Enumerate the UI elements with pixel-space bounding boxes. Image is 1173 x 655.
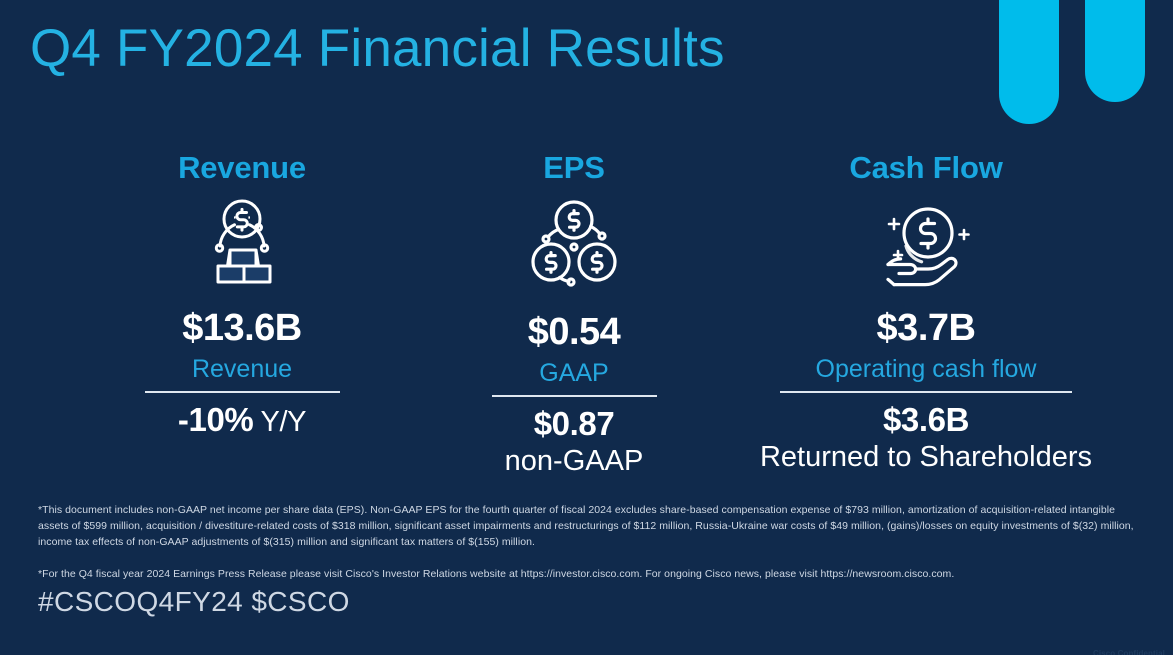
metric-value-revenue: $13.6B xyxy=(182,309,302,347)
cisco-logo xyxy=(999,0,1145,128)
metric-secondary-eps: $0.87 xyxy=(534,407,615,440)
metric-heading-cash-flow: Cash Flow xyxy=(849,152,1002,183)
metric-heading-revenue: Revenue xyxy=(178,152,306,183)
gold-bars-dollar-coin-icon xyxy=(190,195,294,291)
slide-root: Q4 FY2024 Financial Results Revenue xyxy=(0,0,1173,655)
metric-card-cash-flow: Cash Flow xyxy=(736,152,1116,474)
footnote-non-gaap: *This document includes non-GAAP net inc… xyxy=(38,503,1148,551)
metric-divider-revenue xyxy=(145,391,340,393)
metric-secondary-value-revenue: -10% xyxy=(178,401,253,438)
hand-holding-coin-icon xyxy=(868,195,984,291)
page-title: Q4 FY2024 Financial Results xyxy=(30,20,725,78)
confidential-marker: Cisco Confidential xyxy=(1093,649,1165,655)
logo-bar-left xyxy=(999,0,1059,124)
metric-secondary-label-eps: non-GAAP xyxy=(505,446,644,478)
logo-bar-right xyxy=(1085,0,1145,102)
hashtag-line: #CSCOQ4FY24 $CSCO xyxy=(38,586,350,618)
metric-secondary-label-cash-flow: Returned to Shareholders xyxy=(760,442,1092,474)
metric-heading-eps: EPS xyxy=(543,152,604,183)
metric-divider-cash-flow xyxy=(780,391,1072,393)
metric-sublabel-cash-flow: Operating cash flow xyxy=(816,355,1037,384)
metric-divider-eps xyxy=(492,395,657,397)
footnote-press-release: *For the Q4 fiscal year 2024 Earnings Pr… xyxy=(38,567,1148,583)
footnotes: *This document includes non-GAAP net inc… xyxy=(38,503,1148,583)
metric-sublabel-revenue: Revenue xyxy=(192,355,292,384)
metric-secondary-revenue: -10% Y/Y xyxy=(178,403,306,437)
metric-secondary-cash-flow: $3.6B xyxy=(883,403,969,436)
metric-value-eps: $0.54 xyxy=(528,313,621,351)
metric-card-eps: EPS xyxy=(412,152,736,478)
metric-card-revenue: Revenue xyxy=(72,152,412,437)
three-dollar-coins-icon xyxy=(522,195,626,291)
metric-secondary-suffix-revenue: Y/Y xyxy=(253,406,306,438)
metrics-row: Revenue xyxy=(0,152,1173,478)
metric-sublabel-eps: GAAP xyxy=(539,359,608,388)
metric-value-cash-flow: $3.7B xyxy=(877,309,976,347)
